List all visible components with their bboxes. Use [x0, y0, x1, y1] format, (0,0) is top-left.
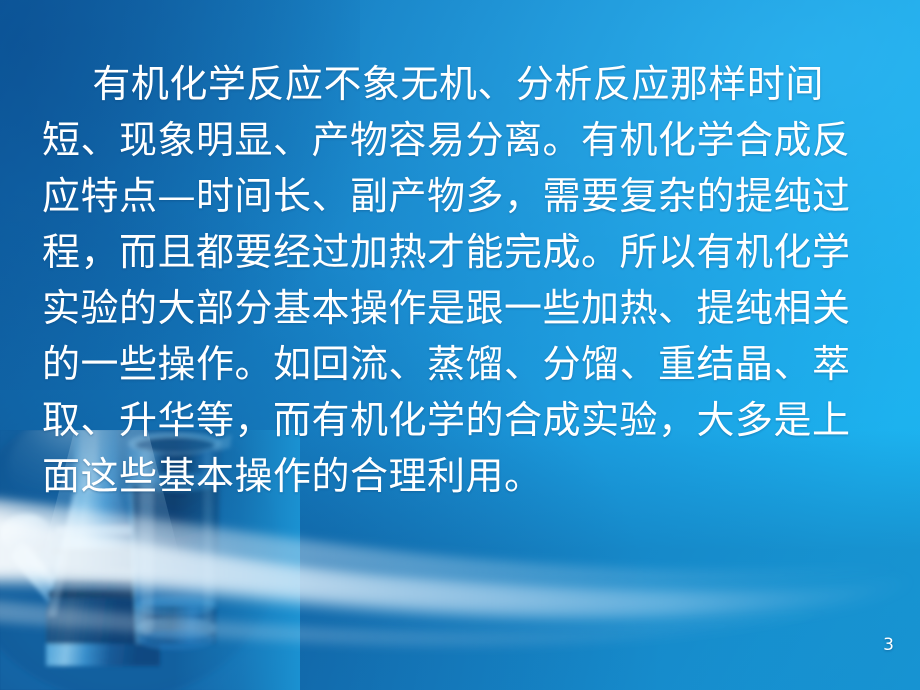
page-number: 3 — [883, 637, 894, 654]
presentation-slide: 有机化学反应不象无机、分析反应那样时间短、现象明显、产物容易分离。有机化学合成反… — [0, 0, 920, 690]
slide-body-text: 有机化学反应不象无机、分析反应那样时间短、现象明显、产物容易分离。有机化学合成反… — [42, 56, 878, 504]
